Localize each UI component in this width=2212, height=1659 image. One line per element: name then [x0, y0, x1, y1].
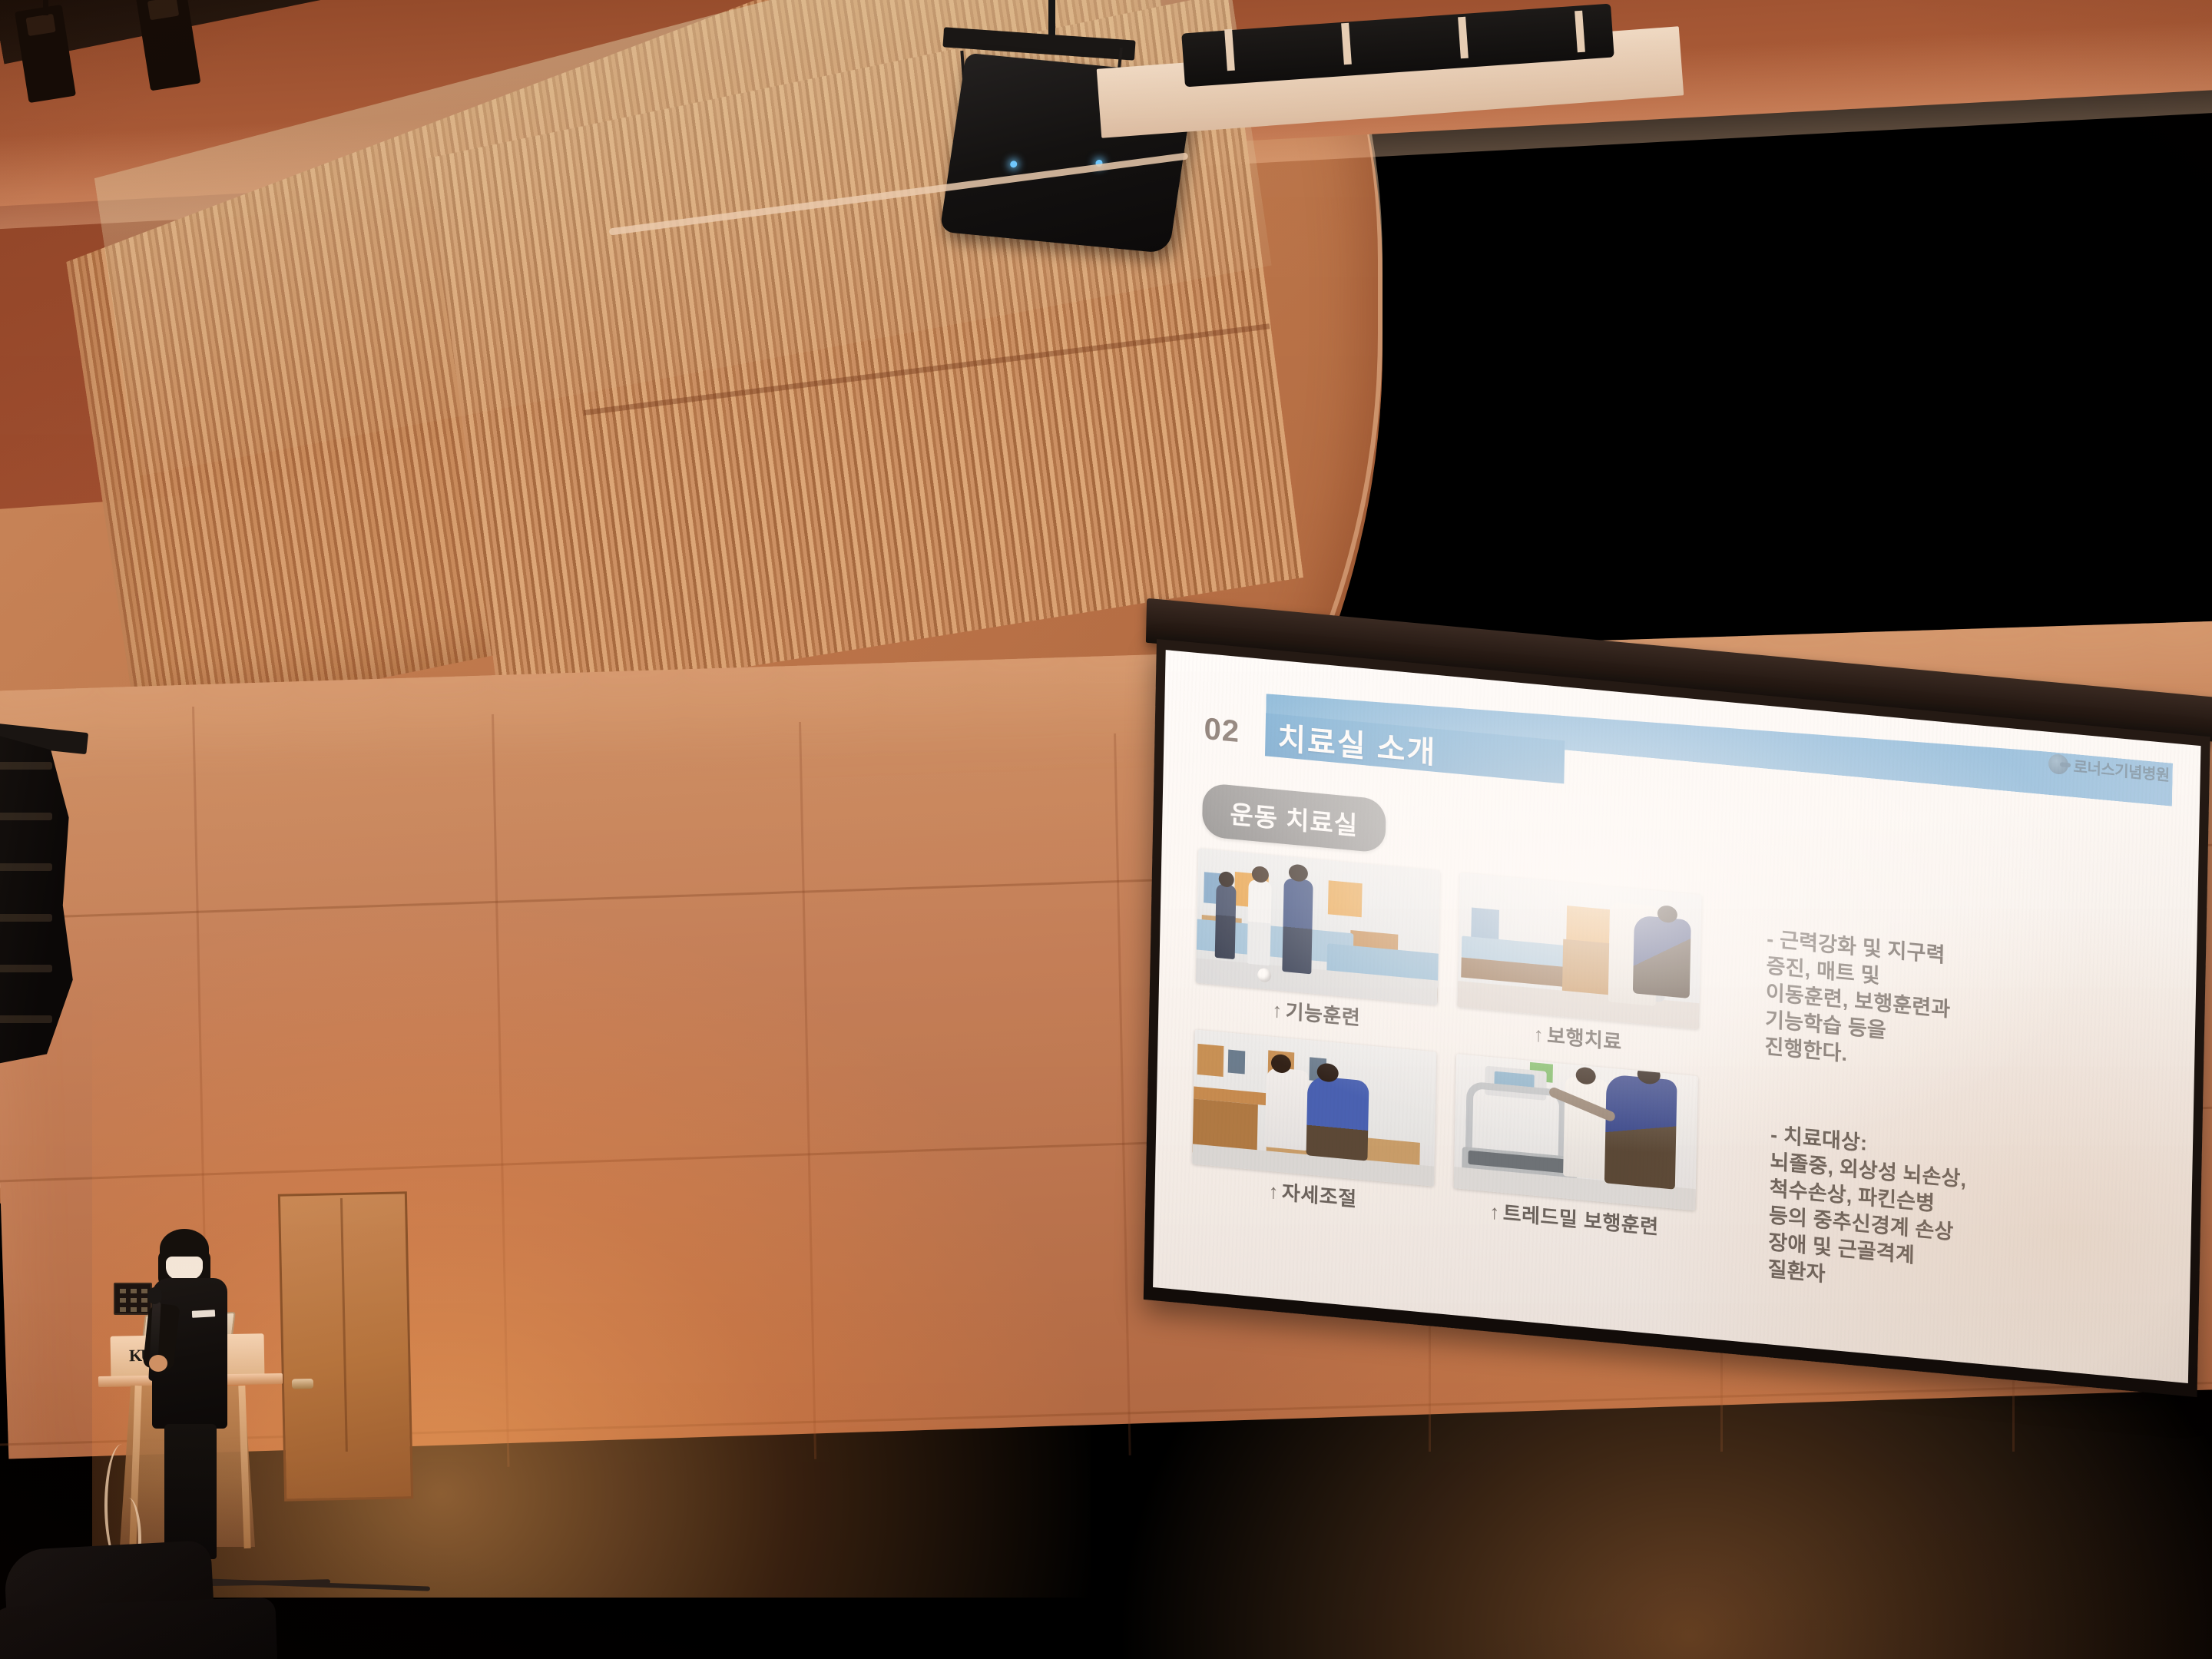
photo-row: ↑자세조절	[1191, 1029, 1716, 1245]
presentation-slide: 02 치료실 소개 로너스기념병원 운동 치료실	[1153, 650, 2200, 1383]
caption-arrow-icon: ↑	[1268, 1180, 1279, 1204]
slide-section-number: 02	[1204, 709, 1240, 752]
presenter-legs	[164, 1424, 217, 1559]
door-seam	[340, 1198, 348, 1452]
auditorium-scene: 02 치료실 소개 로너스기념병원 운동 치료실	[0, 0, 2212, 1659]
slide-target-text: - 치료대상: 뇌졸중, 외상성 뇌손상, 척수손상, 파킨슨병 등의 중추신경…	[1767, 1121, 2047, 1309]
photo-cell: ↑보행치료	[1457, 873, 1702, 1062]
caption-arrow-icon: ↑	[1489, 1200, 1500, 1224]
caption-arrow-icon: ↑	[1533, 1022, 1544, 1046]
slide-photo-grid: ↑기능훈련	[1191, 849, 1720, 1246]
photo-posture-control	[1192, 1029, 1436, 1186]
caption-text: 자세조절	[1282, 1181, 1357, 1210]
projection-screen-frame: 02 치료실 소개 로너스기념병원 운동 치료실	[1144, 639, 2210, 1397]
photo-functional-training	[1196, 849, 1440, 1005]
speaker-led-indicator	[1010, 161, 1018, 168]
photo-cell: ↑트레드밀 보행훈련	[1453, 1054, 1698, 1243]
brand-mark-icon	[2048, 753, 2068, 774]
presenter-hand	[149, 1355, 167, 1372]
photo-gait-therapy	[1457, 873, 1701, 1029]
caption-arrow-icon: ↑	[1272, 998, 1283, 1022]
slide-description-text: - 근력강화 및 지구력 증진, 매트 및 이동훈련, 보행훈련과 기능학습 등…	[1764, 926, 2043, 1086]
photo-treadmill-gait-training	[1454, 1054, 1698, 1210]
caption-text: 기능훈련	[1285, 999, 1360, 1029]
projection-screen: 02 치료실 소개 로너스기념병원 운동 치료실	[1144, 639, 2210, 1397]
photo-row: ↑기능훈련	[1195, 849, 1720, 1065]
caption-text: 보행치료	[1547, 1024, 1622, 1054]
caption-text: 트레드밀 보행훈련	[1503, 1201, 1659, 1239]
photo-cell: ↑기능훈련	[1195, 849, 1440, 1038]
presenter	[144, 1233, 229, 1556]
projection-screen-surface: 02 치료실 소개 로너스기념병원 운동 치료실	[1153, 650, 2200, 1383]
door-handle-icon[interactable]	[292, 1379, 313, 1389]
slide-subsection-pill: 운동 치료실	[1202, 783, 1386, 853]
presenter-name-tag	[192, 1310, 215, 1318]
presenter-face-mask	[166, 1257, 203, 1280]
microphone-capsule	[147, 1287, 162, 1304]
light-yoke	[43, 0, 48, 15]
equipment-bag-secondary	[0, 1597, 278, 1659]
stage-side-door[interactable]	[278, 1191, 413, 1501]
photo-cell: ↑자세조절	[1191, 1029, 1436, 1219]
